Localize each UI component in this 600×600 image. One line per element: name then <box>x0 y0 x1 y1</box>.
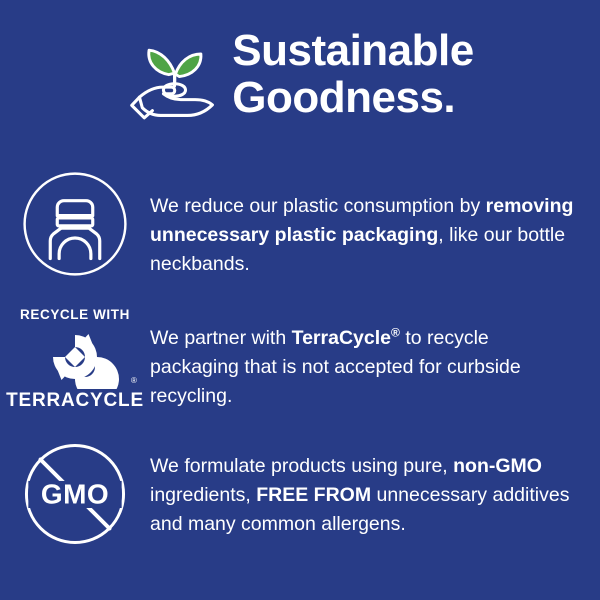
no-gmo-circle-icon: GMO <box>19 438 131 550</box>
feature-row-plastic-packaging: We reduce our plastic consumption by rem… <box>0 168 600 280</box>
feature-row-terracycle: RECYCLE WITH <box>0 305 600 412</box>
text-part-bold: TerraCycle <box>292 327 391 349</box>
hand-holding-sprout-icon <box>126 30 222 126</box>
text-part: We formulate products using pure, <box>150 455 453 477</box>
text-part-bold: non-GMO <box>453 455 542 477</box>
terracycle-top-label: RECYCLE WITH <box>20 307 130 322</box>
text-part: We reduce our plastic consumption by <box>150 195 486 217</box>
feature-icon-slot: GMO <box>0 438 150 550</box>
text-part: We partner with <box>150 327 292 349</box>
bottle-neckband-circle-icon <box>19 168 131 280</box>
text-part-registered: ® <box>391 326 400 340</box>
no-gmo-label: GMO <box>41 478 109 509</box>
header: Sustainable Goodness. <box>0 26 600 126</box>
terracycle-bottom-label: TERRACYCLE <box>6 390 144 412</box>
infinity-recycle-arrows-icon: ® <box>9 325 141 389</box>
registered-mark: ® <box>131 376 137 385</box>
feature-text-non-gmo: We formulate products using pure, non-GM… <box>150 438 600 539</box>
text-part-bold: FREE FROM <box>256 484 371 506</box>
page-title: Sustainable Goodness. <box>232 27 473 125</box>
feature-text-terracycle: We partner with TerraCycle® to recycle p… <box>150 305 600 411</box>
feature-icon-slot <box>0 168 150 280</box>
feature-text-plastic-packaging: We reduce our plastic consumption by rem… <box>150 168 600 279</box>
text-part: ingredients, <box>150 484 256 506</box>
sustainable-goodness-infographic: Sustainable Goodness. We re <box>0 0 600 600</box>
feature-row-non-gmo: GMO We formulate products using pure, no… <box>0 438 600 550</box>
feature-icon-slot: RECYCLE WITH <box>0 305 150 412</box>
terracycle-logo: RECYCLE WITH <box>5 305 145 412</box>
